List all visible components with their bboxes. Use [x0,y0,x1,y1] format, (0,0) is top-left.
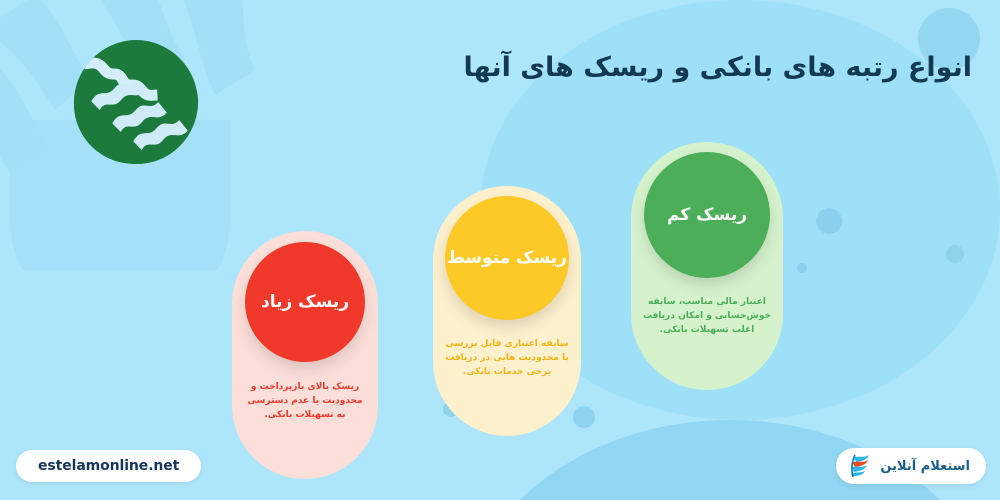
brand-label: استعلام آنلاین [880,459,970,474]
risk-badge-low: ریسک کم [644,152,770,278]
risk-badge-high: ریسک زیاد [245,242,365,362]
risk-card-medium[interactable]: ریسک متوسط سابقه اعتباری قابل بررسی با م… [433,186,581,436]
risk-description-medium: سابقه اعتباری قابل بررسی با محدودیت هایی… [444,338,570,380]
brand-pill[interactable]: استعلام آنلاین [836,448,986,484]
background-dot-e [946,245,964,263]
page-title: انواع رتبه های بانکی و ریسک های آنها [464,52,972,83]
website-pill[interactable]: estelamonline.net [16,450,201,482]
bank-melli-logo-icon [70,36,202,168]
website-label: estelamonline.net [38,458,179,474]
background-dot-c [573,406,595,428]
risk-description-low: اعتبار مالی مناسب، سابقه خوش‌حسابی و امک… [642,296,772,338]
background-dot-b [797,263,807,273]
infographic-canvas: انواع رتبه های بانکی و ریسک های آنها ریس… [0,0,1000,500]
risk-description-high: ریسک بالای بازپرداخت و محدودیت یا عدم دس… [243,381,367,423]
background-dot-a [816,208,842,234]
risk-badge-medium: ریسک متوسط [445,196,569,320]
estelam-wave-logo-icon [848,453,872,479]
risk-card-high[interactable]: ریسک زیاد ریسک بالای بازپرداخت و محدودیت… [232,231,378,479]
risk-card-low[interactable]: ریسک کم اعتبار مالی مناسب، سابقه خوش‌حسا… [631,142,783,390]
